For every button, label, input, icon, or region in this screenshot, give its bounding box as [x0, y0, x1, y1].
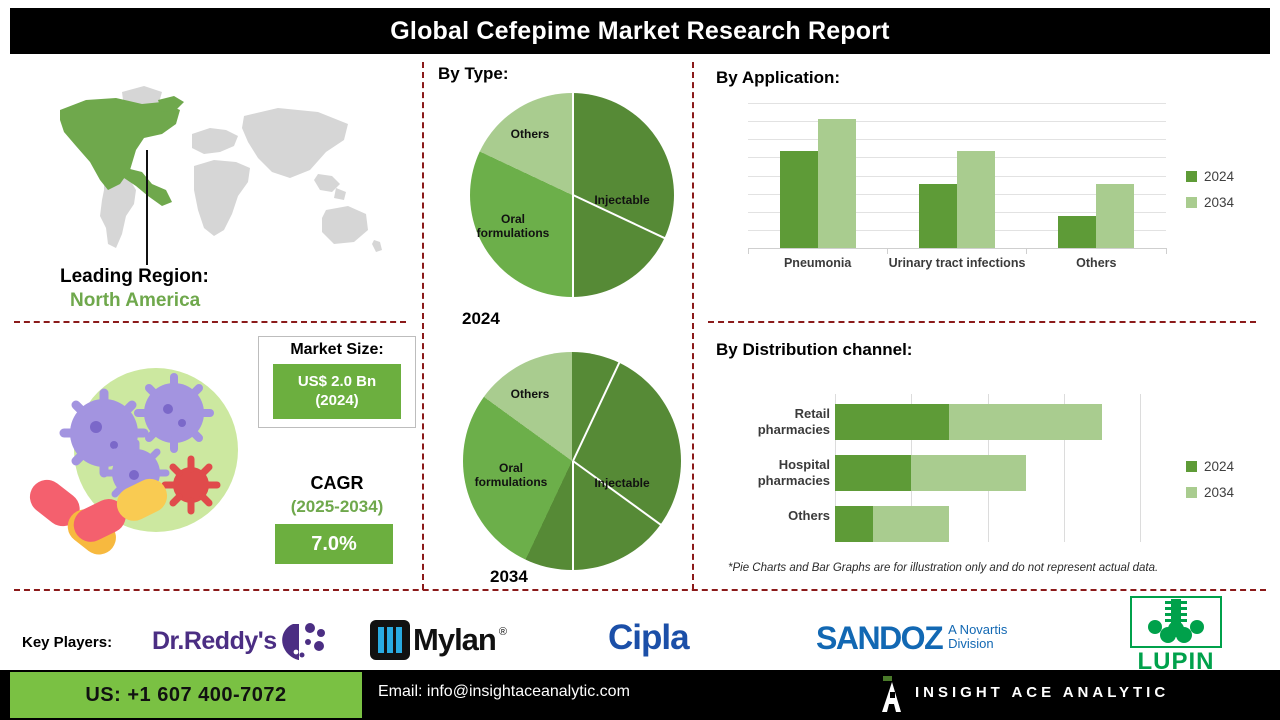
category-label: Pneumonia — [748, 256, 887, 272]
stacked-bar-row — [835, 506, 949, 542]
bar-2034 — [1096, 184, 1134, 248]
pie-slice-divider — [572, 195, 574, 297]
logo-cipla-text: Cipla — [608, 618, 689, 658]
divider-horizontal-left — [14, 321, 406, 323]
axis-tick — [1166, 248, 1167, 254]
logo-lupin: LUPIN — [1130, 596, 1222, 676]
key-players-label: Key Players: — [22, 634, 112, 651]
legend-label-2024-dist: 2024 — [1204, 459, 1234, 474]
legend-item-2024-dist: 2024 — [1186, 459, 1234, 474]
bar-group — [887, 103, 1026, 248]
mylan-mark-icon — [370, 620, 410, 660]
legend-item-2034: 2034 — [1186, 195, 1234, 210]
pie-slice-divider — [572, 362, 620, 461]
application-bar-chart — [748, 103, 1166, 248]
logo-mylan: Mylan ® — [370, 620, 507, 660]
legend-swatch-2024-dist — [1186, 461, 1197, 472]
bar-2024 — [1058, 216, 1096, 248]
bar-segment-2034 — [949, 404, 1102, 440]
stacked-bar-row — [835, 404, 1102, 440]
lupin-mark-icon — [1130, 596, 1222, 648]
bar-2034 — [957, 151, 995, 248]
application-bar-groups — [748, 103, 1166, 248]
pie-2034-label-others: Others — [494, 388, 566, 402]
footer-email[interactable]: Email: info@insightaceanalytic.com — [378, 683, 630, 701]
category-label: Retailpharmacies — [690, 406, 830, 437]
legend-swatch-2024 — [1186, 171, 1197, 182]
axis-tick — [887, 248, 888, 254]
pie-2024-label-injectable: Injectable — [582, 194, 662, 208]
cagr-years: (2025-2034) — [258, 497, 416, 517]
pills-bacteria-illustration — [26, 345, 266, 560]
cagr-value-chip: 7.0% — [275, 524, 393, 564]
footer-brand: INSIGHT ACE ANALYTIC — [915, 684, 1169, 701]
logo-mylan-text: Mylan — [413, 622, 496, 658]
chart-footnote: *Pie Charts and Bar Graphs are for illus… — [728, 562, 1158, 574]
legend-swatch-2034-dist — [1186, 487, 1197, 498]
page-title: Global Cefepime Market Research Report — [390, 17, 889, 46]
divider-vertical-left — [422, 62, 424, 590]
logo-sandoz: SANDOZ A Novartis Division — [816, 620, 1007, 657]
bar-segment-2024 — [835, 506, 873, 542]
legend-item-2024: 2024 — [1186, 169, 1234, 184]
page-header: Global Cefepime Market Research Report — [10, 8, 1270, 54]
logo-mylan-registered: ® — [499, 626, 507, 638]
legend-swatch-2034 — [1186, 197, 1197, 208]
footer-phone[interactable]: US: +1 607 400-7072 — [10, 672, 362, 718]
pie-chart-2034 — [463, 352, 681, 570]
leading-region-value: North America — [70, 290, 200, 312]
pie-slice-divider — [572, 460, 661, 526]
sandoz-sub-line-2: Division — [948, 636, 994, 651]
bar-group — [1027, 103, 1166, 248]
category-label: Urinary tract infections — [887, 256, 1026, 272]
bar-group — [748, 103, 887, 248]
dr-reddys-mark-icon — [277, 620, 325, 662]
market-size-label: Market Size: — [290, 341, 383, 359]
logo-sandoz-subtitle: A Novartis Division — [948, 623, 1007, 650]
pie-2024-label-oral: Oralformulations — [472, 213, 554, 241]
distribution-bar-chart — [835, 394, 1140, 542]
divider-horizontal-right — [708, 321, 1256, 323]
market-size-value: US$ 2.0 Bn — [298, 373, 376, 392]
pie-2024-label-others: Others — [494, 128, 566, 142]
gridline — [1140, 394, 1141, 542]
legend-label-2034-dist: 2034 — [1204, 485, 1234, 500]
category-label: Hospitalpharmacies — [690, 457, 830, 488]
market-size-card: Market Size: US$ 2.0 Bn (2024) — [258, 336, 416, 428]
legend-item-2034-dist: 2034 — [1186, 485, 1234, 500]
bar-segment-2024 — [835, 455, 911, 491]
divider-horizontal-bottom — [14, 589, 1266, 591]
bar-2024 — [919, 184, 957, 248]
pie-2034-year: 2034 — [490, 567, 528, 587]
cagr-label: CAGR — [258, 473, 416, 494]
by-type-title: By Type: — [438, 64, 509, 84]
pie-2034-label-injectable: Injectable — [582, 477, 662, 491]
category-label: Others — [1027, 256, 1166, 272]
by-application-title: By Application: — [716, 68, 840, 88]
application-category-labels: PneumoniaUrinary tract infectionsOthers — [748, 256, 1166, 272]
category-label: Others — [690, 508, 830, 524]
logo-dr-reddys-text: Dr.Reddy's — [152, 627, 277, 656]
logo-sandoz-text: SANDOZ — [816, 620, 942, 657]
application-x-axis — [748, 248, 1166, 249]
insight-ace-logo-icon — [880, 676, 906, 712]
bar-segment-2024 — [835, 404, 949, 440]
axis-tick — [748, 248, 749, 254]
bar-2034 — [818, 119, 856, 248]
logo-cipla: Cipla — [608, 618, 689, 658]
axis-tick — [1026, 248, 1027, 254]
distribution-legend: 2024 2034 — [1186, 459, 1234, 511]
bar-segment-2034 — [911, 455, 1025, 491]
bar-2024 — [780, 151, 818, 248]
logo-dr-reddys: Dr.Reddy's — [152, 620, 325, 662]
distribution-category-labels: RetailpharmaciesHospitalpharmaciesOthers — [690, 394, 830, 542]
leading-region-label: Leading Region: — [60, 266, 209, 288]
bar-segment-2034 — [873, 506, 949, 542]
pie-slice-divider — [572, 461, 574, 570]
market-size-year: (2024) — [315, 392, 358, 411]
pie-2024-year: 2024 — [462, 309, 500, 329]
world-map — [18, 70, 408, 270]
region-pointer-line — [146, 150, 148, 265]
pie-2034-label-oral: Oralformulations — [470, 462, 552, 490]
pie-slice-divider — [572, 93, 574, 195]
market-size-chip: US$ 2.0 Bn (2024) — [273, 364, 401, 419]
stacked-bar-row — [835, 455, 1026, 491]
legend-label-2024: 2024 — [1204, 169, 1234, 184]
legend-label-2034: 2034 — [1204, 195, 1234, 210]
by-distribution-title: By Distribution channel: — [716, 340, 912, 360]
application-legend: 2024 2034 — [1186, 169, 1234, 221]
